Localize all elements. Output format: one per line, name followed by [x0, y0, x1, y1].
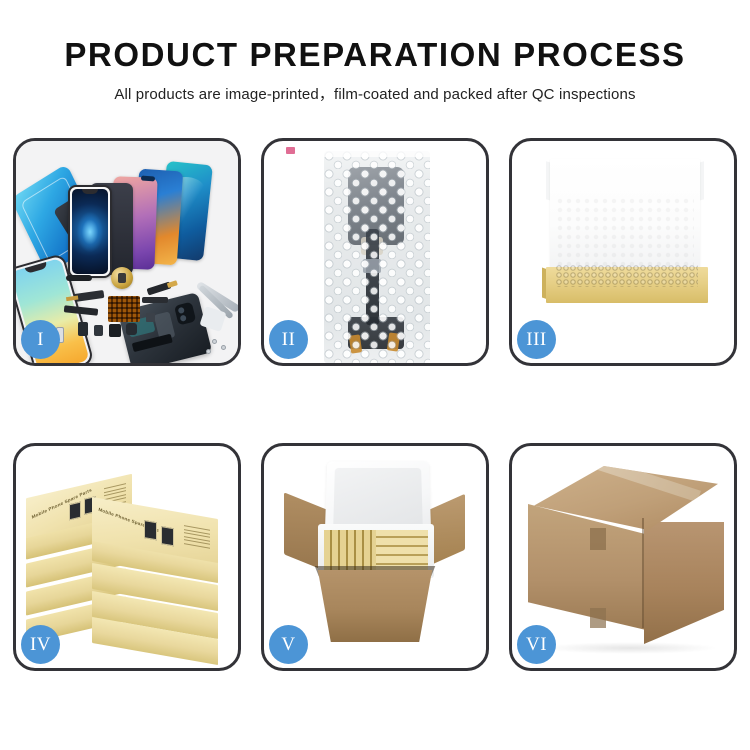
step-panel-6: VI [509, 443, 737, 671]
phone-orange-notch-icon [141, 176, 155, 182]
header: PRODUCT PREPARATION PROCESS All products… [0, 36, 750, 104]
foam-sheet-icon [556, 197, 694, 269]
step-panel-3: III [509, 138, 737, 366]
product-preparation-infographic: PRODUCT PREPARATION PROCESS All products… [0, 0, 750, 750]
phone-notch-icon [82, 189, 98, 194]
front-spec-lines-icon [184, 525, 210, 551]
step-badge-4: IV [21, 625, 60, 664]
screw-2-icon [221, 345, 226, 350]
step-badge-6: VI [517, 625, 556, 664]
carton-body-icon [310, 570, 440, 642]
step-badge-3: III [517, 320, 556, 359]
step-panel-1: I [13, 138, 241, 366]
packed-boxes-icon [324, 530, 428, 572]
small-part-5-icon [146, 313, 155, 322]
carton-face-right-icon [644, 522, 724, 644]
phone-screen-icon [72, 189, 108, 274]
front-window-1-icon [144, 520, 157, 540]
speaker-module-icon [111, 267, 133, 289]
housing-label-icon [132, 334, 173, 352]
rear-window-1-icon [69, 502, 81, 521]
bubble-bag-icon [324, 151, 430, 363]
small-part-2-icon [94, 325, 103, 336]
step-panel-5: V [261, 443, 489, 671]
packed-boxes-row-1-icon [324, 530, 376, 572]
step-badge-2: II [269, 320, 308, 359]
bag-seal-icon [324, 145, 430, 157]
bubble-texture-icon [324, 151, 430, 363]
step-panel-4: Mobile Phone Spare Parts Mobile [13, 443, 241, 671]
steps-grid: I II [13, 138, 737, 671]
step-panel-2: II [261, 138, 489, 366]
step-badge-1: I [21, 320, 60, 359]
front-window-2-icon [161, 526, 174, 546]
earpiece-bar-icon [66, 275, 92, 281]
page-title: PRODUCT PREPARATION PROCESS [0, 36, 750, 74]
carton-vertical-seam-icon [642, 518, 644, 628]
bubble-wrapped-contents-icon [556, 265, 698, 287]
carton-shadow-icon [542, 642, 718, 654]
carton-tape-tab-bottom-icon [590, 608, 606, 628]
screen-burst-icon [77, 212, 103, 252]
packed-boxes-row-2-icon [376, 530, 428, 572]
carton-tape-tab-top-icon [590, 528, 606, 550]
small-part-4-icon [126, 323, 137, 335]
small-part-3-icon [109, 324, 121, 337]
screw-mat-icon [108, 296, 140, 322]
foam-lid-inner-icon [333, 468, 423, 530]
small-part-1-icon [78, 322, 88, 336]
flex-cable-4-icon [142, 297, 168, 303]
camera-module-icon [174, 302, 196, 326]
pink-qc-sticker-icon [286, 147, 295, 154]
screw-1-icon [212, 339, 217, 344]
screw-3-icon [206, 349, 211, 354]
page-subtitle: All products are image-printed，film-coat… [0, 83, 750, 104]
phone-front-glass-icon [68, 185, 112, 278]
box-stack-icon: Mobile Phone Spare Parts Mobile [22, 468, 238, 658]
sealed-carton-icon [528, 466, 724, 652]
step-badge-5: V [269, 625, 308, 664]
packing-tape-icon [583, 454, 701, 502]
